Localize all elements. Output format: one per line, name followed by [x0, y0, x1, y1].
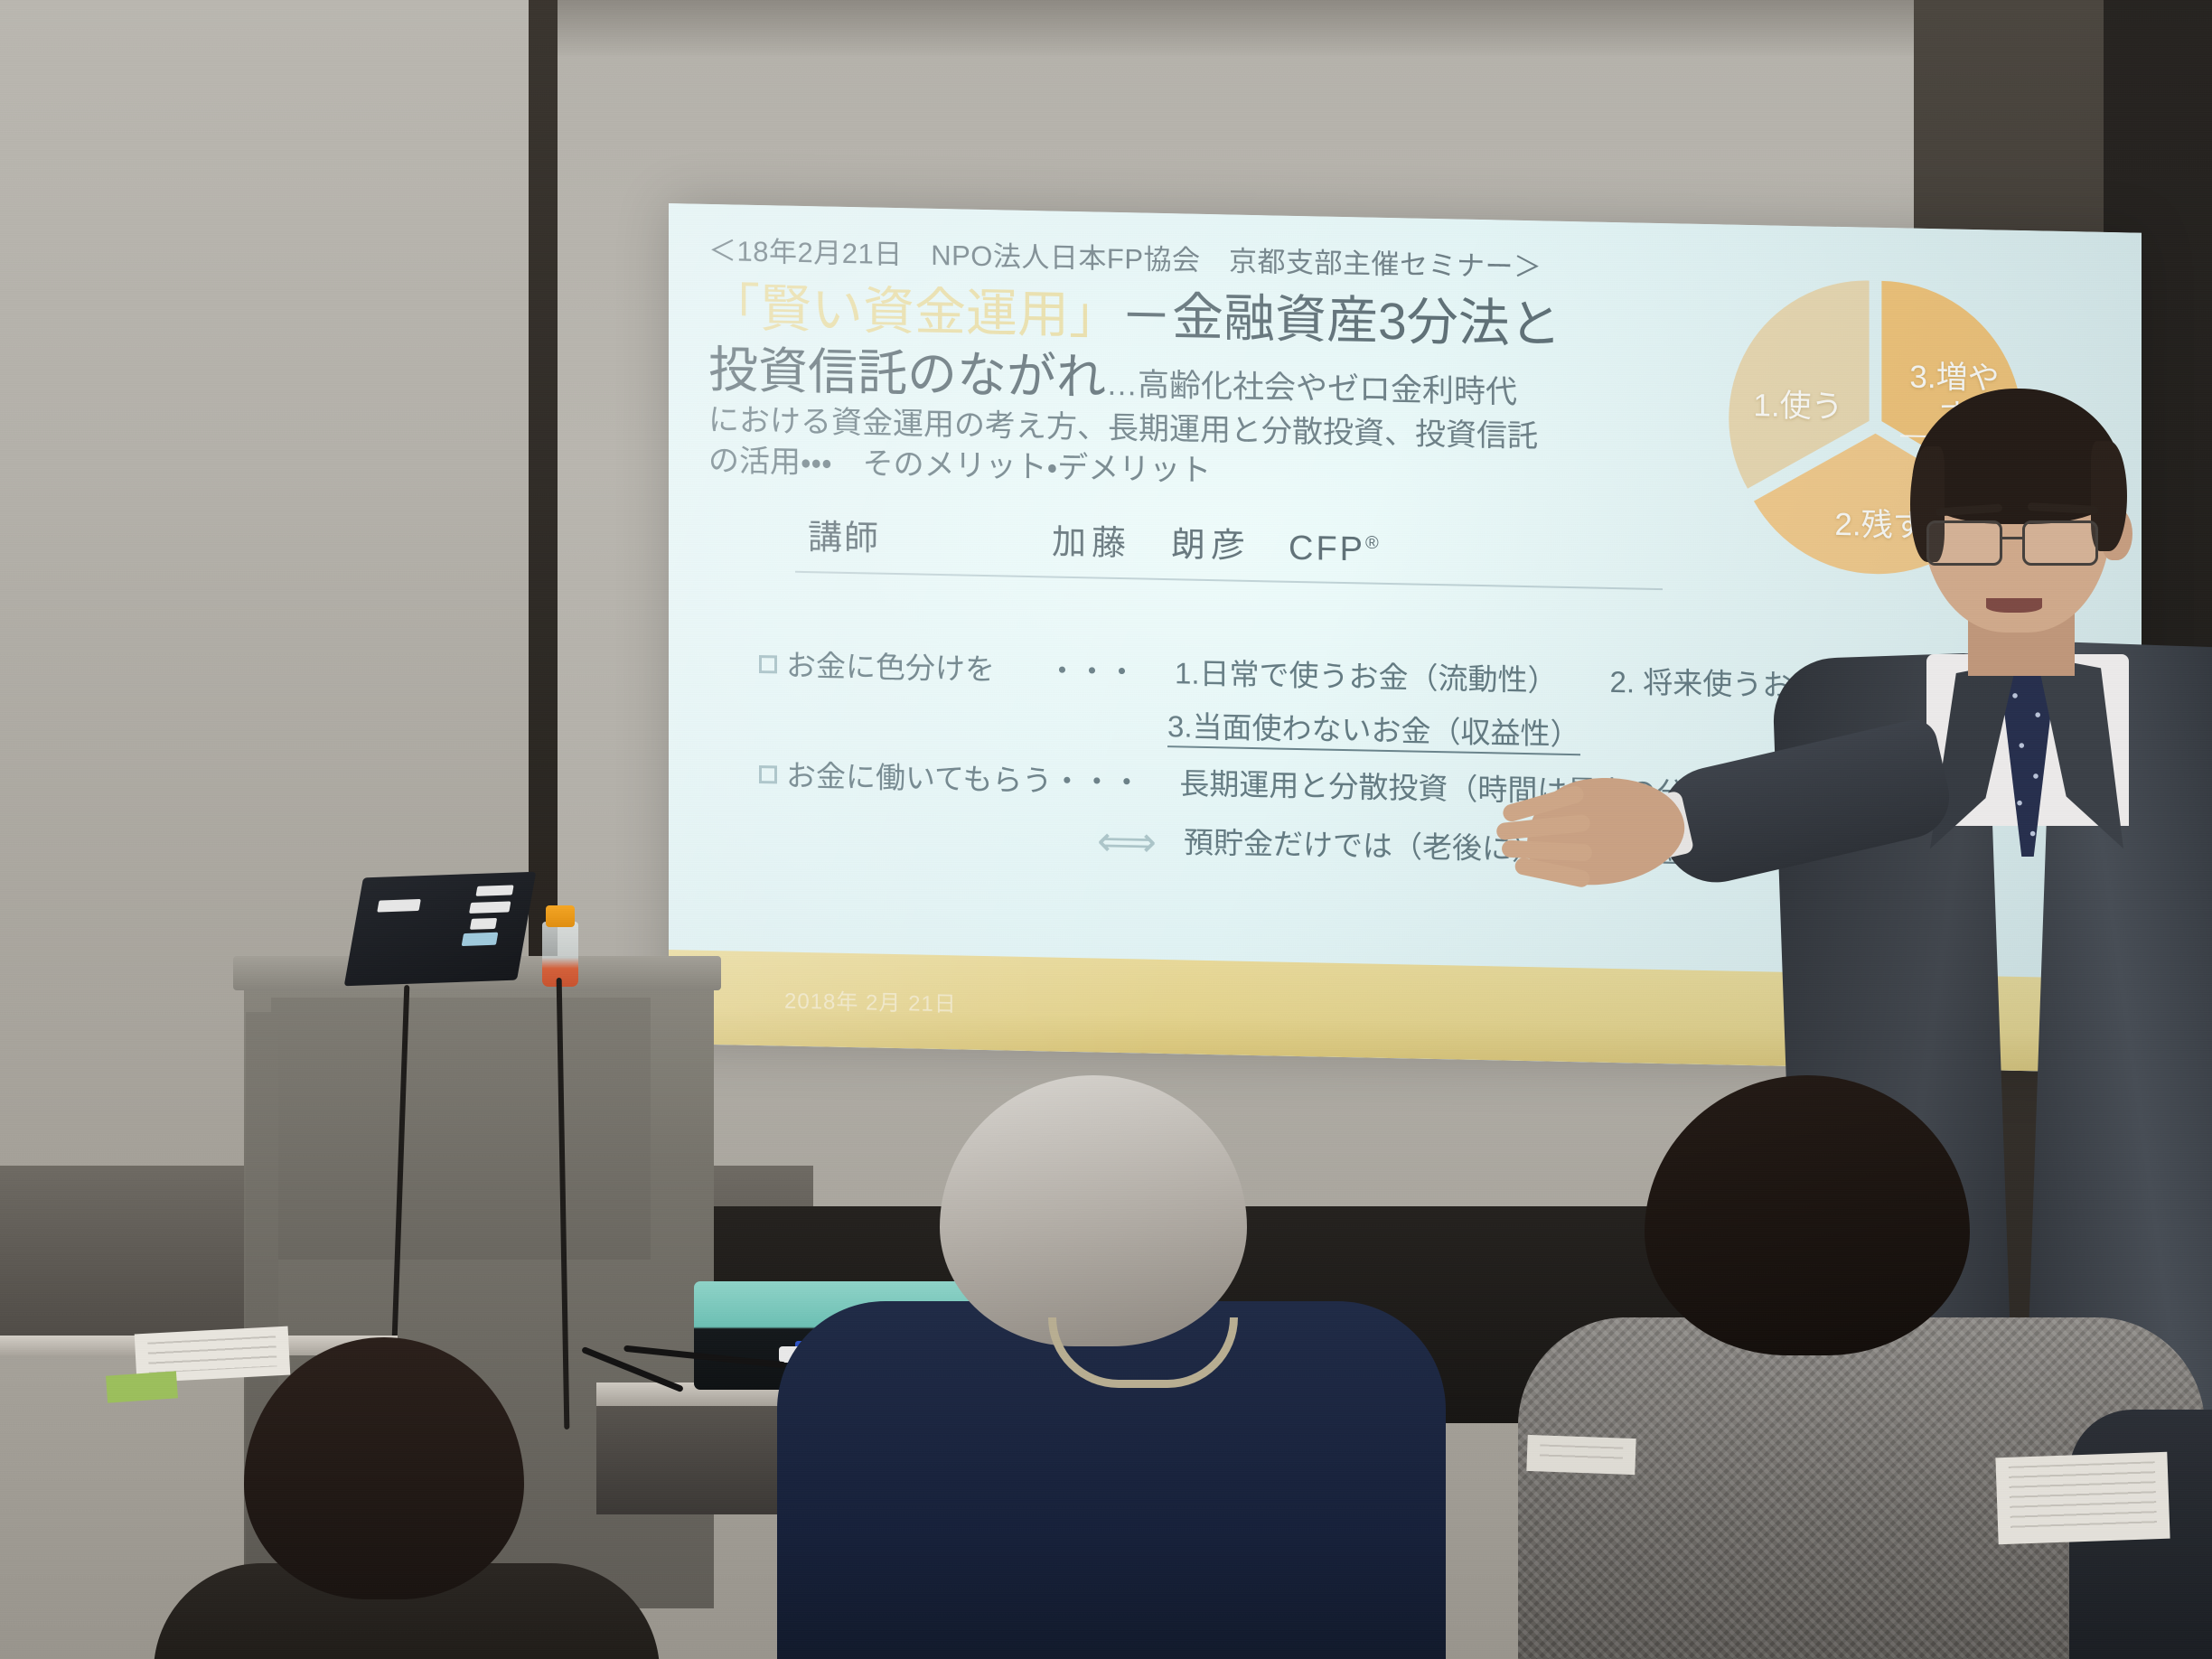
lens-right [2022, 520, 2098, 566]
eyeglasses-icon [1926, 520, 2114, 569]
audience-head [940, 1075, 1247, 1346]
slide-title-rest: －金融資産3分法と [1120, 287, 1561, 354]
handout-paper [1995, 1452, 2170, 1545]
audience-center [777, 1075, 1446, 1659]
square-bullet-icon [759, 655, 777, 673]
slide-subtitle-main: 投資信託のながれ [708, 342, 1106, 406]
bullet-1-item-3: 3.当面使わないお金（収益性） [1167, 709, 1580, 755]
audience-front-left [163, 1337, 669, 1659]
bullet-2-separator: ・・・ [1052, 765, 1141, 797]
slide-subtitle-tail: …高齢化社会やゼロ金利時代 [1106, 367, 1517, 410]
laptop-sticker [470, 918, 497, 930]
credential-text: CFP [1289, 530, 1365, 569]
paper-text-lines [2009, 1461, 2158, 1535]
glasses-bridge [2002, 537, 2024, 539]
audience-head [1645, 1075, 1970, 1355]
mouth [1986, 598, 2042, 613]
slide-title-highlight: 「賢い資金運用」 [708, 279, 1120, 345]
speaker-role-label: 講師 [808, 509, 880, 560]
bottle-cap [546, 905, 575, 927]
photo-scene: ＜18年2月21日 NPO法人日本FP協会 京都支部主催セミナー＞ 「賢い資金運… [0, 0, 2212, 1659]
presenter-laptop [344, 872, 537, 987]
bullet-2-label: お金に働いてもらう [786, 760, 1052, 795]
bullet-1-item-1: 1.日常で使うお金（流動性） [1175, 658, 1558, 696]
lectern-front-panel [271, 998, 651, 1260]
bullet-1-label: お金に色分けを [786, 650, 995, 684]
laptop-sticker [462, 933, 499, 946]
speaker-name: 加藤 朗彦 [1052, 513, 1251, 567]
handout-paper [1526, 1435, 1636, 1475]
slide-footer-date: 2018年 2月 21日 [784, 983, 957, 1018]
audience-head [244, 1337, 524, 1599]
slide-divider-rule [795, 571, 1663, 590]
laptop-sticker [377, 899, 421, 913]
registered-mark-icon: ® [1365, 533, 1382, 553]
square-bullet-icon [759, 765, 777, 783]
water-bottle [542, 922, 578, 987]
double-arrow-icon: ⟺ [1097, 820, 1157, 862]
paper-text-lines [1540, 1444, 1624, 1465]
laptop-sticker [469, 901, 511, 914]
speaker-credential: CFP® [1289, 530, 1382, 570]
laptop-sticker [475, 885, 513, 895]
lens-left [1926, 520, 2002, 566]
bullet-1-separator: ・・・ [1047, 655, 1137, 687]
